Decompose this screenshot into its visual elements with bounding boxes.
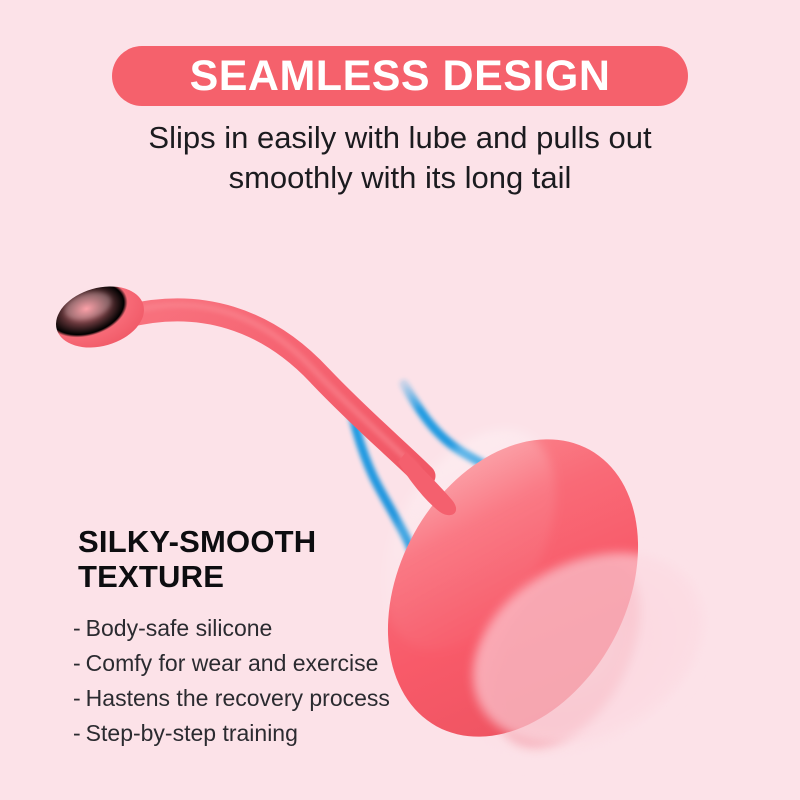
headline-text: SEAMLESS DESIGN xyxy=(190,55,611,98)
feature-list: -Body-safe silicone -Comfy for wear and … xyxy=(73,611,478,751)
tail-bulb-tip xyxy=(49,277,152,358)
bullet-dash-icon: - xyxy=(73,646,81,681)
list-item: -Hastens the recovery process xyxy=(73,681,478,716)
bullet-dash-icon: - xyxy=(73,681,81,716)
list-item-label: Body-safe silicone xyxy=(86,615,273,641)
list-item: -Comfy for wear and exercise xyxy=(73,646,478,681)
list-item-label: Comfy for wear and exercise xyxy=(86,650,379,676)
tail-cord xyxy=(120,305,424,476)
list-item-label: Step-by-step training xyxy=(86,720,298,746)
subtitle: Slips in easily with lube and pulls out … xyxy=(100,118,700,197)
product-feature-card: SEAMLESS DESIGN Slips in easily with lub… xyxy=(0,0,800,800)
headline-banner: SEAMLESS DESIGN xyxy=(112,46,688,106)
subtitle-line-1: Slips in easily with lube and pulls out xyxy=(100,118,700,158)
subtitle-line-2: smoothly with its long tail xyxy=(100,158,700,198)
feature-heading-line-2: TEXTURE xyxy=(78,559,478,594)
bullet-dash-icon: - xyxy=(73,611,81,646)
tail-egg-junction xyxy=(398,452,456,515)
list-item-label: Hastens the recovery process xyxy=(86,685,390,711)
list-item: -Body-safe silicone xyxy=(73,611,478,646)
ghost-overlap-sliver xyxy=(440,515,736,781)
feature-heading: SILKY-SMOOTH TEXTURE xyxy=(78,524,478,595)
list-item: -Step-by-step training xyxy=(73,716,478,751)
bullet-dash-icon: - xyxy=(73,716,81,751)
feature-heading-line-1: SILKY-SMOOTH xyxy=(78,524,478,559)
feature-block: SILKY-SMOOTH TEXTURE -Body-safe silicone… xyxy=(78,524,478,750)
